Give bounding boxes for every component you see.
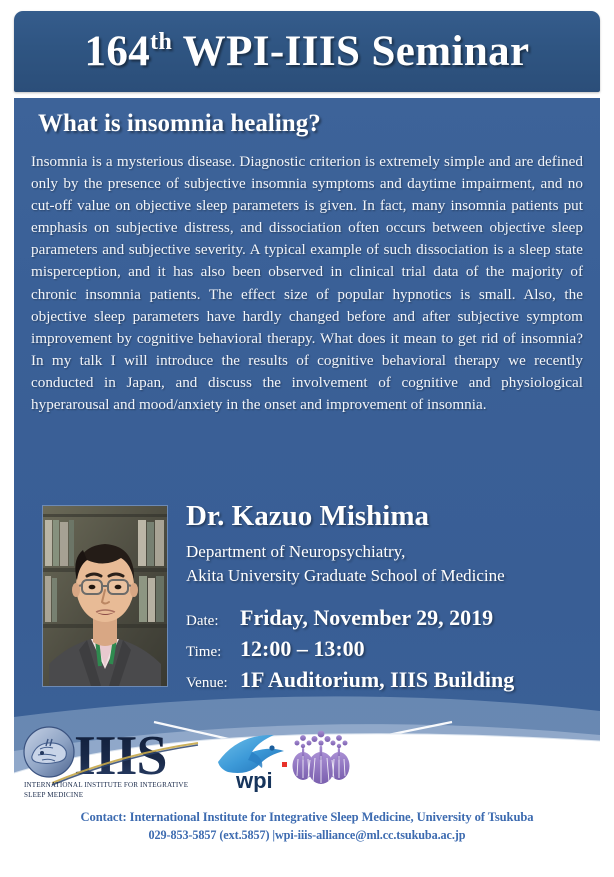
speaker-portrait-illustration bbox=[43, 506, 167, 686]
footer-contact: Contact: International Institute for Int… bbox=[0, 808, 614, 844]
contact-line-2: 029-853-5857 (ext.5857) |wpi-iiis-allian… bbox=[0, 826, 614, 844]
svg-text:IIIS: IIIS bbox=[74, 725, 167, 787]
tsukuba-emblem-logo bbox=[290, 726, 352, 788]
ordinal-suffix: th bbox=[150, 29, 172, 55]
seminar-number: 164 bbox=[84, 28, 150, 75]
seminar-poster: 164th WPI-IIIS Seminar What is insomnia … bbox=[0, 0, 614, 877]
speaker-info: Dr. Kazuo Mishima Department of Neuropsy… bbox=[186, 500, 586, 588]
event-date-value: Friday, November 29, 2019 bbox=[240, 604, 493, 631]
event-date-label: Date: bbox=[186, 608, 240, 635]
iiis-logo-caption: INTERNATIONAL INSTITUTE FOR INTEGRATIVE … bbox=[24, 781, 204, 800]
poster-body-panel: What is insomnia healing? Insomnia is a … bbox=[14, 98, 600, 805]
event-time-row: Time: 12:00 – 13:00 bbox=[186, 635, 596, 666]
talk-subtitle: What is insomnia healing? bbox=[38, 110, 321, 138]
event-time-label: Time: bbox=[186, 639, 240, 666]
iiis-caption-line-1: INTERNATIONAL INSTITUTE FOR INTEGRATIVE bbox=[24, 781, 204, 791]
svg-text:wpi: wpi bbox=[235, 768, 273, 792]
speaker-photo bbox=[42, 505, 168, 687]
seminar-title-rest: WPI-IIIS Seminar bbox=[172, 28, 529, 75]
abstract-text: Insomnia is a mysterious disease. Diagno… bbox=[31, 151, 583, 416]
speaker-affiliation-line-1: Department of Neuropsychiatry, bbox=[186, 540, 586, 564]
poster-title: 164th WPI-IIIS Seminar bbox=[84, 30, 529, 73]
logo-strip: IIIS INTERNATIONAL INSTITUTE FOR INTEGRA… bbox=[14, 718, 600, 806]
contact-line-1: Contact: International Institute for Int… bbox=[0, 808, 614, 826]
speaker-affiliation-line-2: Akita University Graduate School of Medi… bbox=[186, 564, 586, 588]
speaker-name: Dr. Kazuo Mishima bbox=[186, 500, 586, 533]
event-time-value: 12:00 – 13:00 bbox=[240, 635, 365, 662]
iiis-caption-line-2: SLEEP MEDICINE bbox=[24, 791, 204, 801]
event-date-row: Date: Friday, November 29, 2019 bbox=[186, 604, 596, 635]
poster-header-bar: 164th WPI-IIIS Seminar bbox=[14, 11, 600, 92]
